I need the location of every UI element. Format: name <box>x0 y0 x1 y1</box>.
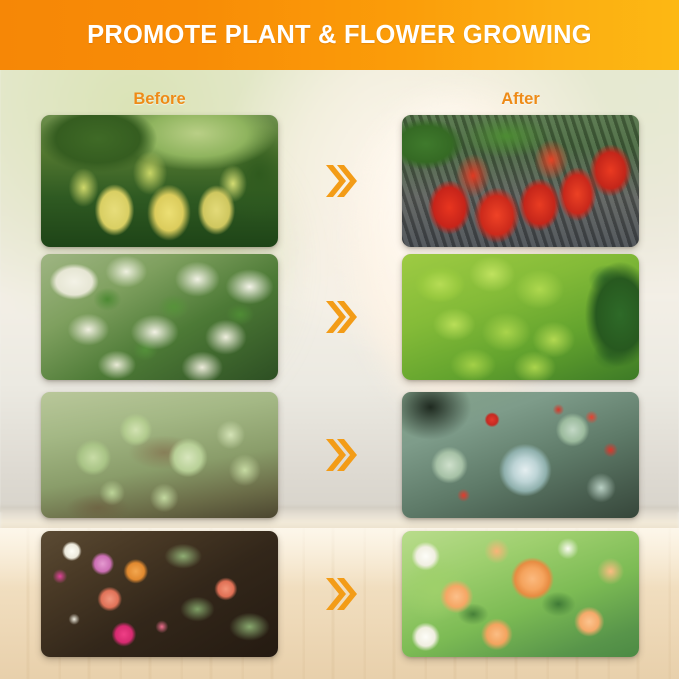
after-image-card-strawberries <box>402 115 639 247</box>
comparison-grid <box>0 0 679 679</box>
photo-strawberries-after <box>402 115 639 247</box>
photo-flowers-before <box>41 531 278 657</box>
transition-arrow <box>302 254 377 380</box>
transition-arrow <box>302 115 377 247</box>
photo-succulents-after <box>402 392 639 518</box>
photo-strawberries-before <box>41 115 278 247</box>
transition-arrow <box>302 392 377 518</box>
photo-pothos-before <box>41 254 278 380</box>
comparison-row <box>0 115 679 247</box>
after-image-card-pothos <box>402 254 639 380</box>
comparison-row <box>0 531 679 657</box>
before-image-card-strawberries <box>41 115 278 247</box>
before-image-card-flowers <box>41 531 278 657</box>
after-image-card-flowers <box>402 531 639 657</box>
photo-pothos-after <box>402 254 639 380</box>
photo-flowers-after <box>402 531 639 657</box>
double-chevron-right-icon <box>323 574 357 614</box>
double-chevron-right-icon <box>323 161 357 201</box>
before-image-card-pothos <box>41 254 278 380</box>
photo-succulents-before <box>41 392 278 518</box>
comparison-row <box>0 254 679 380</box>
before-image-card-succulents <box>41 392 278 518</box>
after-image-card-succulents <box>402 392 639 518</box>
transition-arrow <box>302 531 377 657</box>
double-chevron-right-icon <box>323 297 357 337</box>
double-chevron-right-icon <box>323 435 357 475</box>
comparison-row <box>0 392 679 518</box>
